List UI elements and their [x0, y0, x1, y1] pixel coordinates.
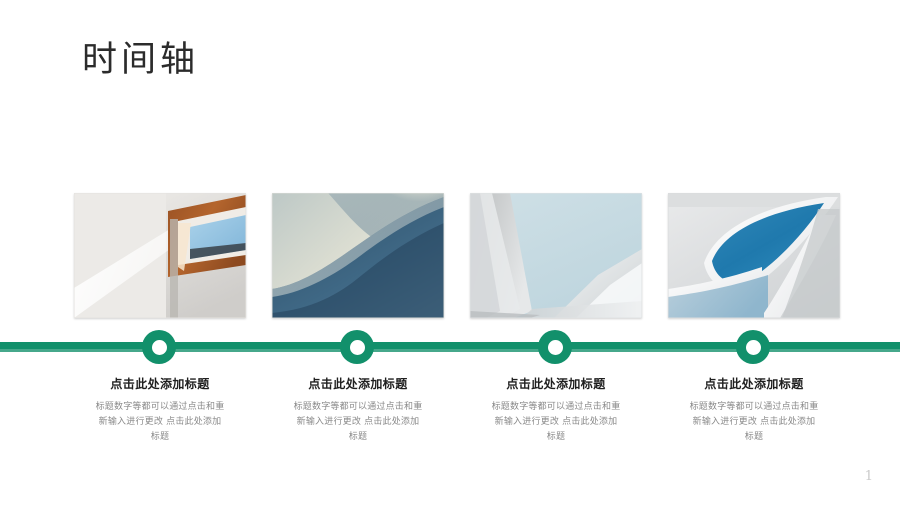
photo-3-art — [470, 193, 642, 318]
photo-3 — [470, 193, 642, 318]
column-4-body: 标题数字等都可以通过点击和重 新输入进行更改 点击此处添加 标题 — [664, 400, 844, 445]
slide-canvas: 时间轴 — [0, 0, 900, 506]
column-1-body-line-1: 标题数字等都可以通过点击和重 — [70, 400, 250, 415]
photo-2-art — [272, 193, 444, 318]
column-2-heading: 点击此处添加标题 — [268, 376, 448, 392]
column-3-body-line-1: 标题数字等都可以通过点击和重 — [466, 400, 646, 415]
column-1-heading: 点击此处添加标题 — [70, 376, 250, 392]
timeline-marker-3[interactable] — [538, 330, 572, 364]
column-1-body: 标题数字等都可以通过点击和重 新输入进行更改 点击此处添加 标题 — [70, 400, 250, 445]
photo-2 — [272, 193, 444, 318]
timeline-column-2[interactable]: 点击此处添加标题 标题数字等都可以通过点击和重 新输入进行更改 点击此处添加 标… — [272, 193, 444, 318]
column-2-body-line-1: 标题数字等都可以通过点击和重 — [268, 400, 448, 415]
column-3-heading: 点击此处添加标题 — [466, 376, 646, 392]
page-number: 1 — [865, 469, 873, 484]
column-4-body-line-3: 标题 — [664, 430, 844, 445]
timeline-column-1[interactable]: 点击此处添加标题 标题数字等都可以通过点击和重 新输入进行更改 点击此处添加 标… — [74, 193, 246, 318]
column-2-body-line-2: 新输入进行更改 点击此处添加 — [268, 415, 448, 430]
column-1-body-line-3: 标题 — [70, 430, 250, 445]
timeline-marker-2[interactable] — [340, 330, 374, 364]
timeline-marker-2-hole — [350, 340, 365, 355]
column-4-heading: 点击此处添加标题 — [664, 376, 844, 392]
column-3-body-line-2: 新输入进行更改 点击此处添加 — [466, 415, 646, 430]
column-1-text: 点击此处添加标题 标题数字等都可以通过点击和重 新输入进行更改 点击此处添加 标… — [70, 376, 250, 445]
timeline-marker-4-hole — [746, 340, 761, 355]
column-1-body-line-2: 新输入进行更改 点击此处添加 — [70, 415, 250, 430]
timeline-marker-3-hole — [548, 340, 563, 355]
column-2-body: 标题数字等都可以通过点击和重 新输入进行更改 点击此处添加 标题 — [268, 400, 448, 445]
timeline-column-4[interactable]: 点击此处添加标题 标题数字等都可以通过点击和重 新输入进行更改 点击此处添加 标… — [668, 193, 840, 318]
column-3-body: 标题数字等都可以通过点击和重 新输入进行更改 点击此处添加 标题 — [466, 400, 646, 445]
photo-1 — [74, 193, 246, 318]
column-3-body-line-3: 标题 — [466, 430, 646, 445]
column-3-text: 点击此处添加标题 标题数字等都可以通过点击和重 新输入进行更改 点击此处添加 标… — [466, 376, 646, 445]
column-4-body-line-2: 新输入进行更改 点击此处添加 — [664, 415, 844, 430]
photo-4-art — [668, 193, 840, 318]
page-title: 时间轴 — [82, 38, 199, 82]
photo-1-art — [74, 193, 246, 318]
timeline-marker-1-hole — [152, 340, 167, 355]
column-2-body-line-3: 标题 — [268, 430, 448, 445]
column-4-text: 点击此处添加标题 标题数字等都可以通过点击和重 新输入进行更改 点击此处添加 标… — [664, 376, 844, 445]
timeline-marker-1[interactable] — [142, 330, 176, 364]
column-2-text: 点击此处添加标题 标题数字等都可以通过点击和重 新输入进行更改 点击此处添加 标… — [268, 376, 448, 445]
timeline-marker-4[interactable] — [736, 330, 770, 364]
photo-4 — [668, 193, 840, 318]
timeline-column-3[interactable]: 点击此处添加标题 标题数字等都可以通过点击和重 新输入进行更改 点击此处添加 标… — [470, 193, 642, 318]
column-4-body-line-1: 标题数字等都可以通过点击和重 — [664, 400, 844, 415]
